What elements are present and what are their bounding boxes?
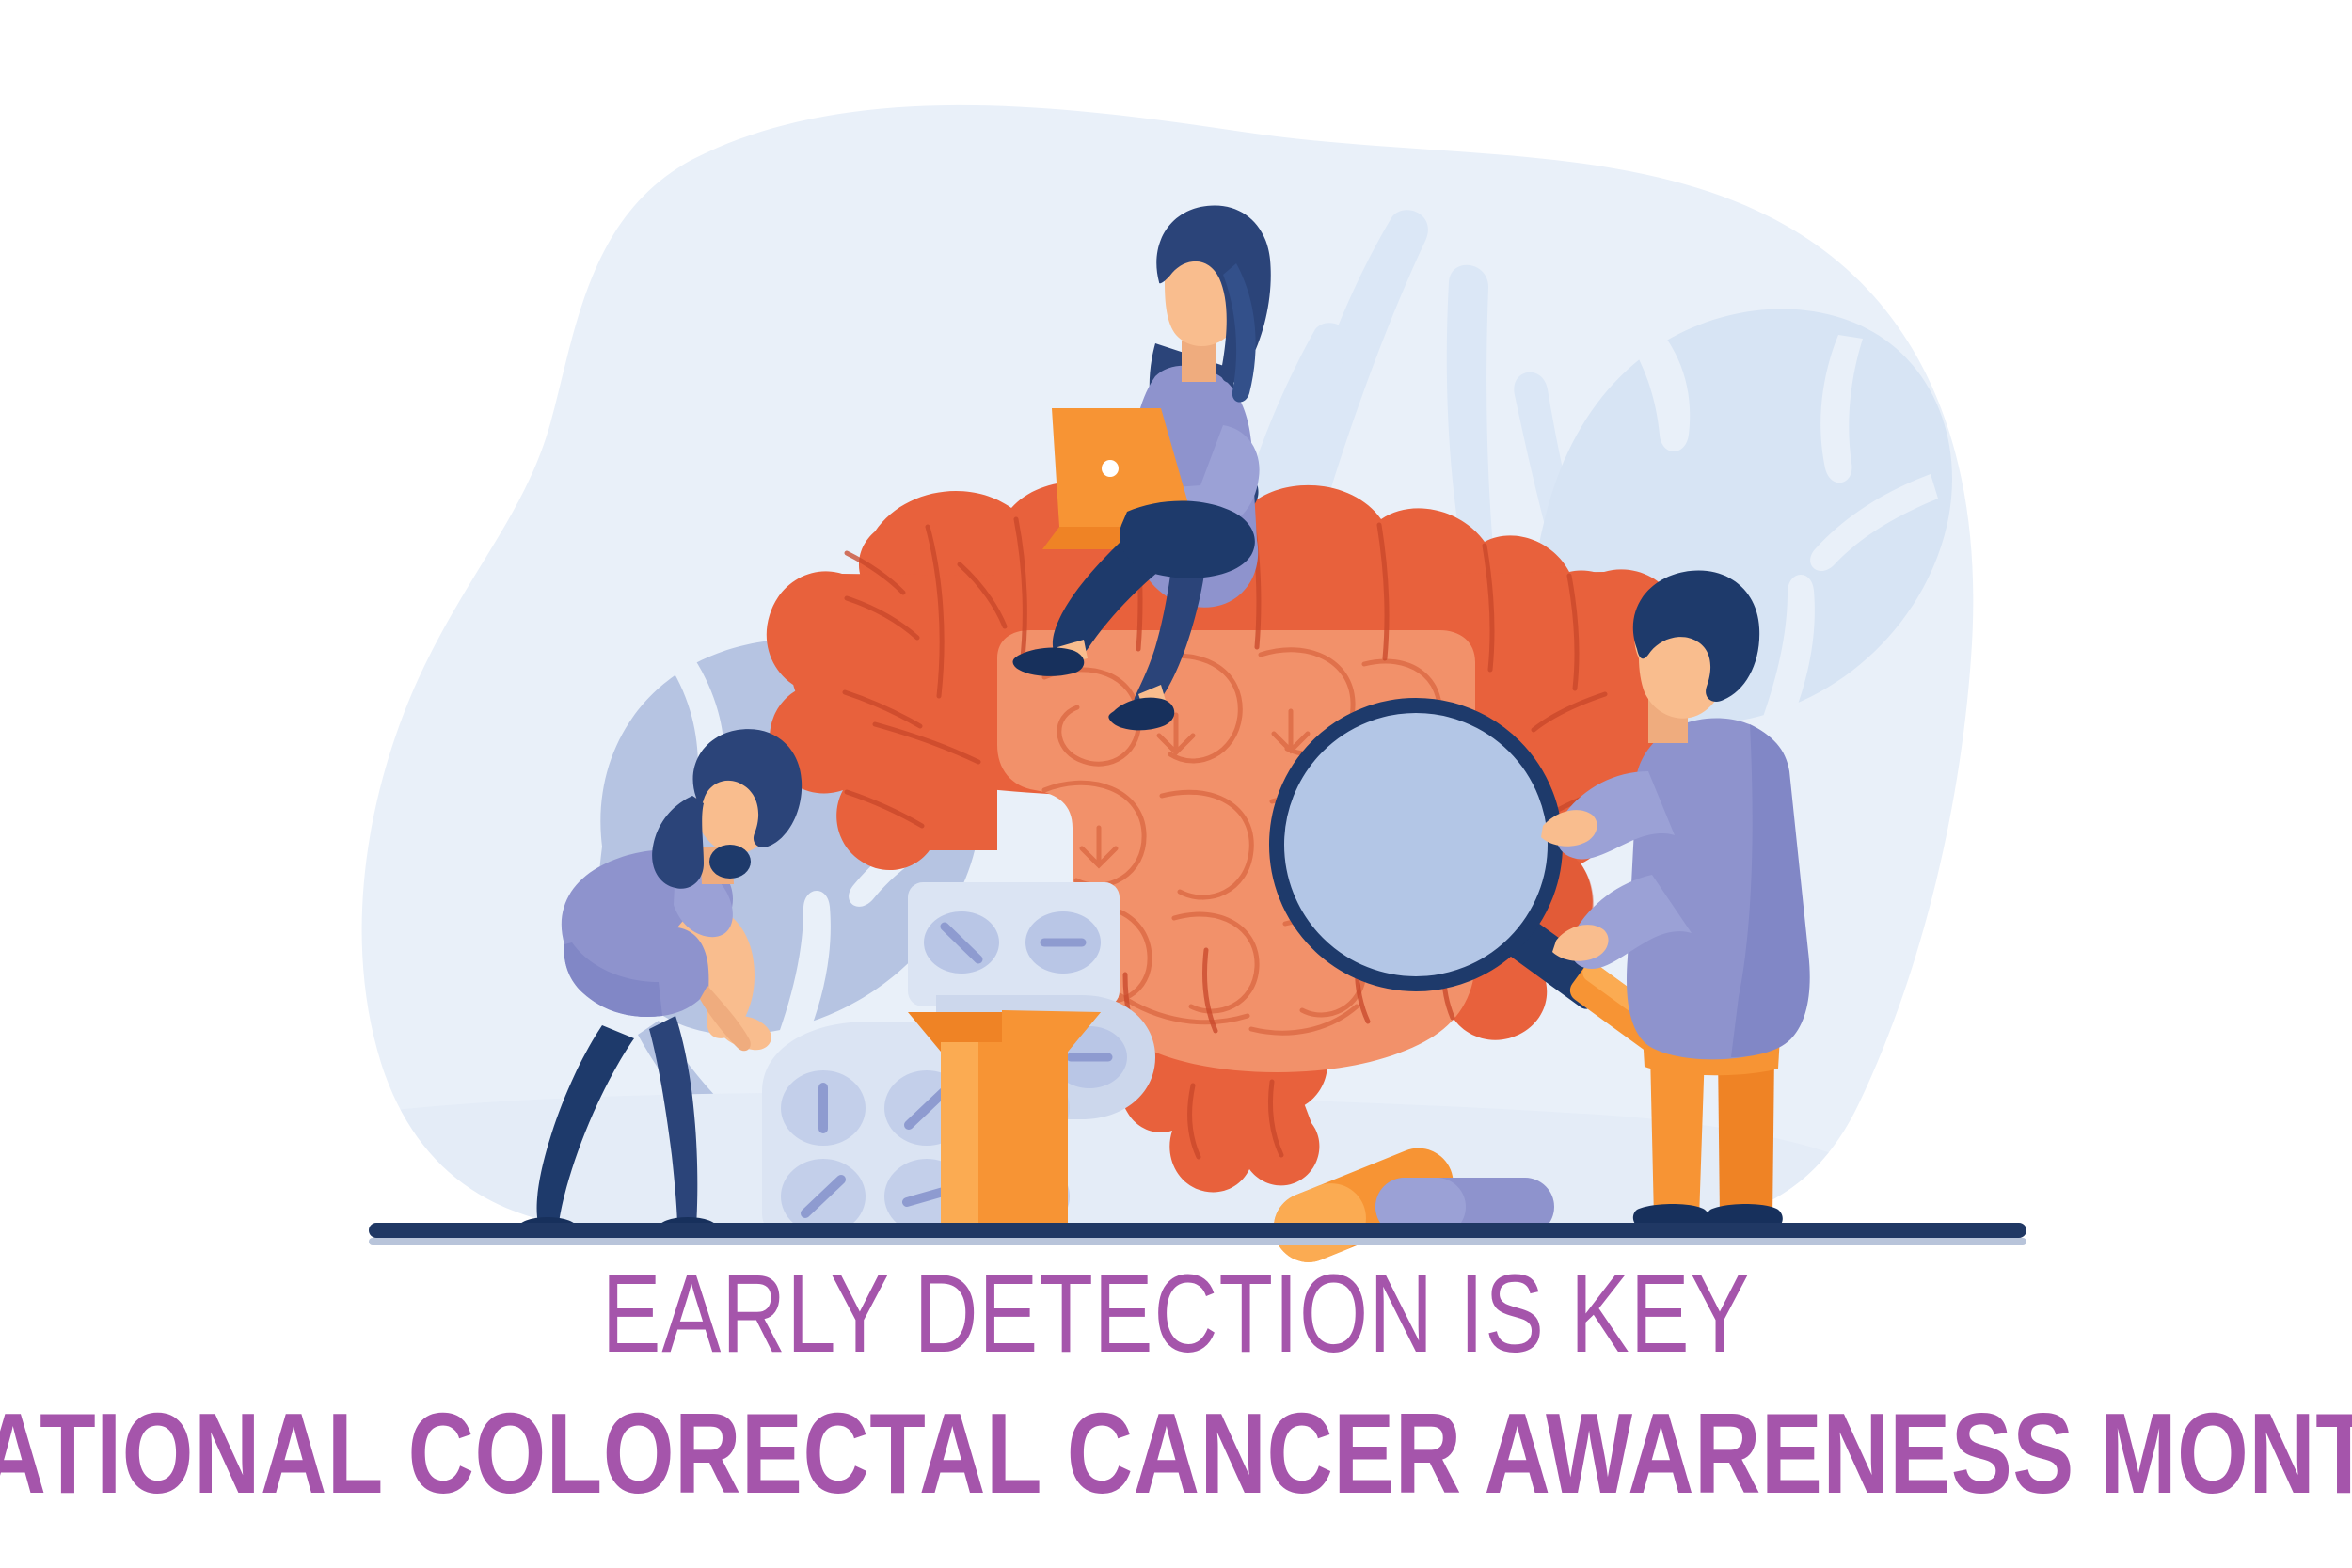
pants-back-leg	[1650, 1052, 1705, 1219]
neck	[1182, 341, 1216, 382]
pill-blister-pack-upper	[908, 882, 1120, 1006]
caption-block: EARLY DETECTION IS KEY NATIONAL COLORECT…	[0, 1251, 2352, 1533]
pants-front-leg	[1718, 1052, 1774, 1219]
headline-subtitle: EARLY DETECTION IS KEY	[602, 1251, 1751, 1370]
magnifier-lens	[1277, 705, 1555, 984]
headline-title: NATIONAL COLORECTAL CANCER AWARENESS MON…	[0, 1370, 2352, 1511]
ground-line	[369, 1223, 2026, 1245]
poster-canvas: EARLY DETECTION IS KEY NATIONAL COLORECT…	[0, 0, 2352, 1568]
hair-tie	[709, 845, 751, 879]
